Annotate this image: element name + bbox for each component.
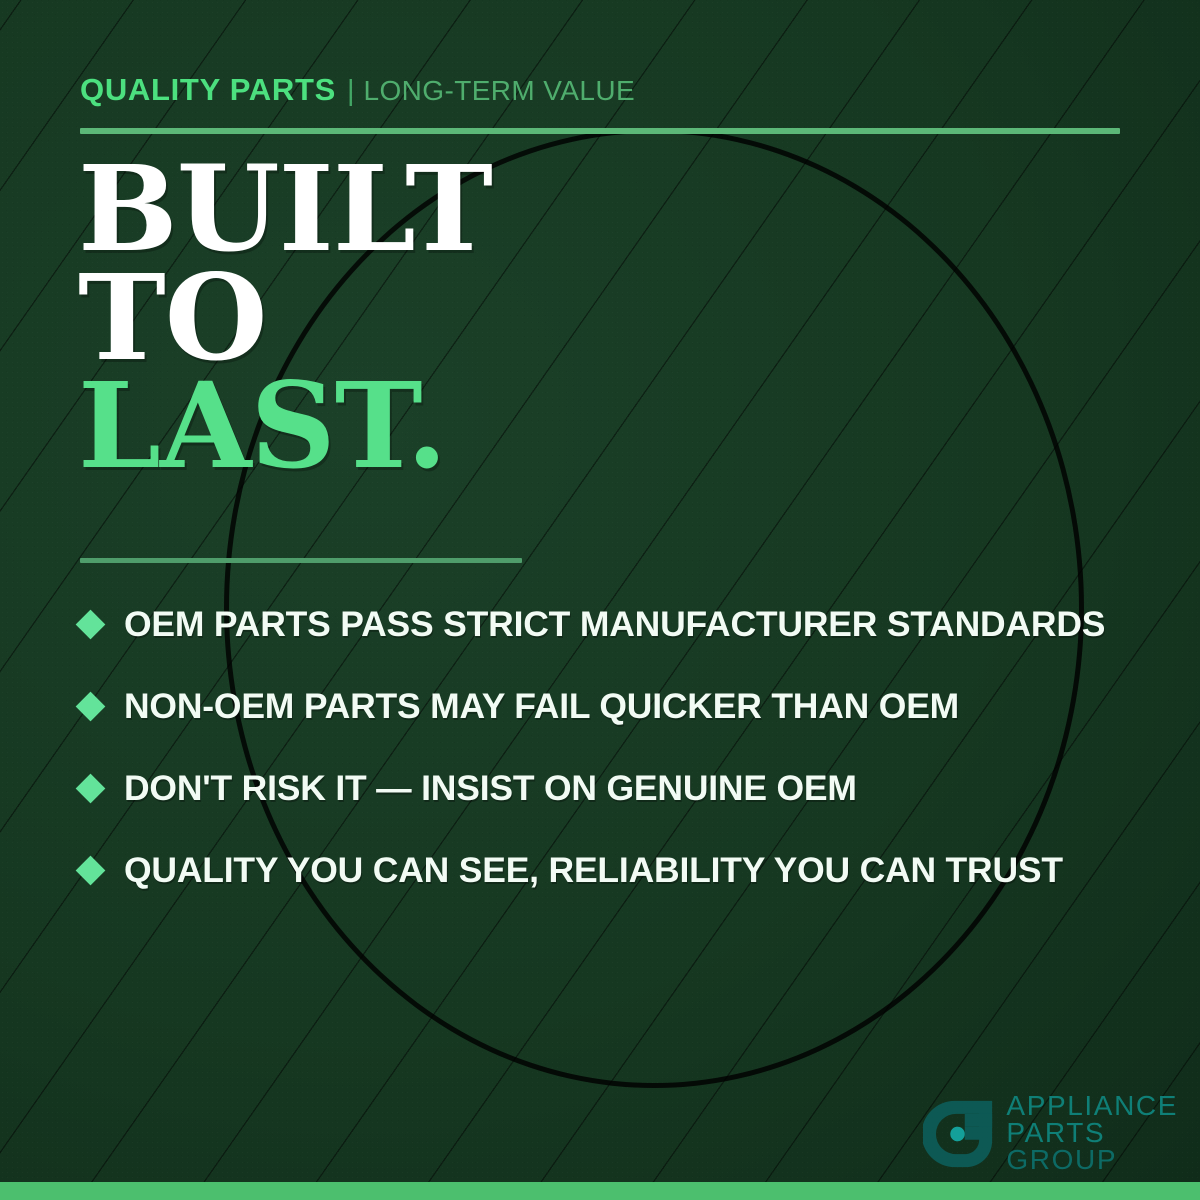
list-item-label: NON-OEM PARTS MAY FAIL QUICKER THAN OEM <box>124 686 959 727</box>
page-title: BUILT TO LAST. <box>78 155 492 481</box>
header-divider-rule <box>80 128 1120 134</box>
diamond-bullet-icon <box>76 691 106 721</box>
headline-divider-rule <box>80 558 522 563</box>
eyebrow-separator: | <box>347 75 355 108</box>
bottom-accent-bar <box>0 1182 1200 1200</box>
diamond-bullet-icon <box>76 609 106 639</box>
list-item-label: DON'T RISK IT — INSIST ON GENUINE OEM <box>124 768 857 809</box>
list-item: NON-OEM PARTS MAY FAIL QUICKER THAN OEM <box>80 665 1140 747</box>
eyebrow-header: QUALITY PARTS | LONG-TERM VALUE <box>80 72 635 108</box>
list-item-label: OEM PARTS PASS STRICT MANUFACTURER STAND… <box>124 604 1105 645</box>
brand-word-line-3: GROUP <box>1006 1147 1178 1174</box>
appliance-parts-group-g-mark <box>923 1098 995 1170</box>
eyebrow-light-label: LONG-TERM VALUE <box>364 75 636 107</box>
list-item: DON'T RISK IT — INSIST ON GENUINE OEM <box>80 747 1140 829</box>
brand-logo-wordmark: APPLIANCE PARTS GROUP <box>1006 1093 1178 1174</box>
eyebrow-strong-label: QUALITY PARTS <box>80 72 336 108</box>
diamond-bullet-icon <box>76 855 106 885</box>
list-item-label: QUALITY YOU CAN SEE, RELIABILITY YOU CAN… <box>124 850 1063 891</box>
diamond-bullet-icon <box>76 773 106 803</box>
list-item: OEM PARTS PASS STRICT MANUFACTURER STAND… <box>80 583 1140 665</box>
headline-line-3: LAST. <box>78 372 492 481</box>
list-item: QUALITY YOU CAN SEE, RELIABILITY YOU CAN… <box>80 829 1140 911</box>
benefits-list: OEM PARTS PASS STRICT MANUFACTURER STAND… <box>80 583 1140 911</box>
poster-canvas: QUALITY PARTS | LONG-TERM VALUE BUILT TO… <box>0 0 1200 1200</box>
brand-word-line-1: APPLIANCE <box>1006 1093 1178 1120</box>
brand-logo: APPLIANCE PARTS GROUP <box>923 1093 1178 1174</box>
brand-word-line-2: PARTS <box>1006 1120 1178 1147</box>
